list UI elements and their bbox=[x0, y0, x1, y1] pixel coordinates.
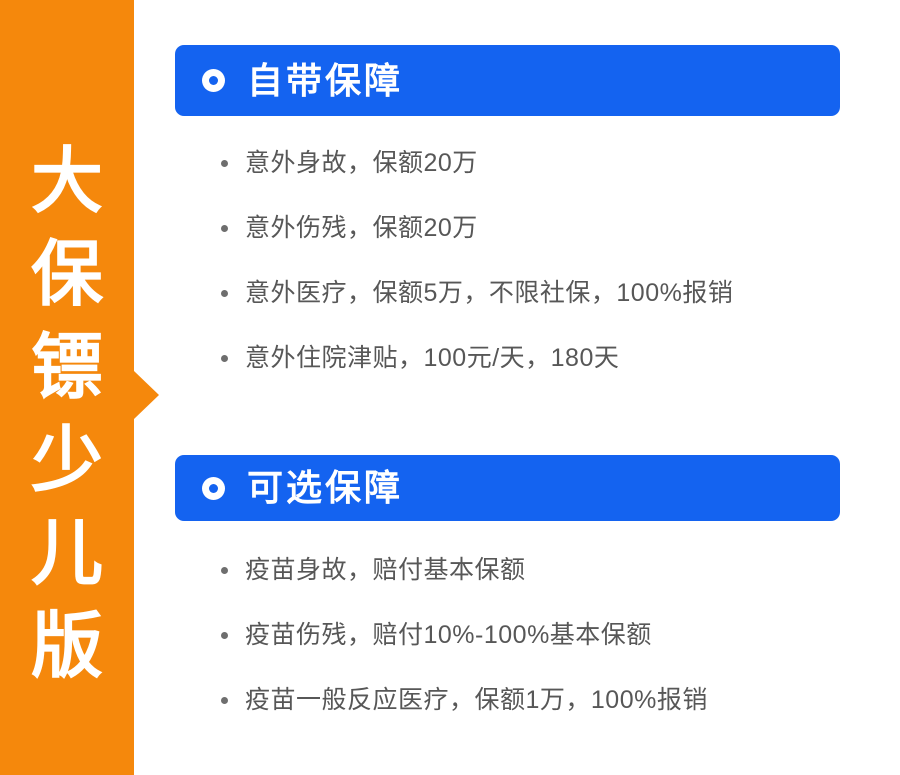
list-item: 意外医疗，保额5万，不限社保，100%报销 bbox=[175, 277, 840, 342]
benefit-text: 意外医疗，保额5万，不限社保，100%报销 bbox=[245, 277, 733, 309]
band-arrow-icon bbox=[134, 371, 159, 419]
section-header-optional: 可选保障 bbox=[175, 455, 840, 521]
bullet-dot-icon bbox=[221, 697, 228, 704]
vertical-title-char: 镖 bbox=[31, 322, 103, 415]
bullet-dot-icon bbox=[221, 355, 228, 362]
section-title: 可选保障 bbox=[247, 470, 403, 506]
list-item: 疫苗伤残，赔付10%-100%基本保额 bbox=[175, 619, 840, 684]
bullet-dot-icon bbox=[221, 160, 228, 167]
ring-icon bbox=[202, 477, 225, 500]
list-item: 疫苗一般反应医疗，保额1万，100%报销 bbox=[175, 684, 840, 749]
section-optional-benefits: 可选保障 疫苗身故，赔付基本保额 疫苗伤残，赔付10%-100%基本保额 疫苗一… bbox=[175, 455, 840, 749]
list-item: 疫苗身故，赔付基本保额 bbox=[175, 554, 840, 619]
vertical-title-char: 保 bbox=[31, 229, 103, 322]
benefit-text: 意外住院津贴，100元/天，180天 bbox=[245, 342, 619, 374]
benefit-list-optional: 疫苗身故，赔付基本保额 疫苗伤残，赔付10%-100%基本保额 疫苗一般反应医疗… bbox=[175, 521, 840, 749]
ring-icon bbox=[202, 69, 225, 92]
benefit-text: 疫苗一般反应医疗，保额1万，100%报销 bbox=[245, 684, 708, 716]
benefit-text: 疫苗伤残，赔付10%-100%基本保额 bbox=[245, 619, 652, 651]
list-item: 意外伤残，保额20万 bbox=[175, 212, 840, 277]
list-item: 意外住院津贴，100元/天，180天 bbox=[175, 342, 840, 407]
section-title: 自带保障 bbox=[247, 63, 403, 99]
bullet-dot-icon bbox=[221, 632, 228, 639]
vertical-title-char: 儿 bbox=[31, 508, 103, 601]
section-header-included: 自带保障 bbox=[175, 45, 840, 116]
bullet-dot-icon bbox=[221, 225, 228, 232]
benefit-text: 意外身故，保额20万 bbox=[245, 147, 478, 179]
list-item: 意外身故，保额20万 bbox=[175, 147, 840, 212]
section-included-benefits: 自带保障 意外身故，保额20万 意外伤残，保额20万 意外医疗，保额5万，不限社… bbox=[175, 45, 840, 407]
benefit-text: 意外伤残，保额20万 bbox=[245, 212, 478, 244]
bullet-dot-icon bbox=[221, 290, 228, 297]
benefits-content: 自带保障 意外身故，保额20万 意外伤残，保额20万 意外医疗，保额5万，不限社… bbox=[175, 0, 900, 775]
benefit-text: 疫苗身故，赔付基本保额 bbox=[245, 554, 526, 586]
vertical-title-char: 少 bbox=[31, 415, 103, 508]
vertical-product-title: 大 保 镖 少 儿 版 bbox=[0, 136, 134, 694]
product-name-band: 大 保 镖 少 儿 版 bbox=[0, 0, 134, 775]
benefit-list-included: 意外身故，保额20万 意外伤残，保额20万 意外医疗，保额5万，不限社保，100… bbox=[175, 116, 840, 407]
insurance-benefits-card: 大 保 镖 少 儿 版 自带保障 意外身故，保额20万 意外伤残，保 bbox=[0, 0, 900, 775]
vertical-title-char: 大 bbox=[31, 136, 103, 229]
bullet-dot-icon bbox=[221, 567, 228, 574]
vertical-title-char: 版 bbox=[31, 601, 103, 694]
